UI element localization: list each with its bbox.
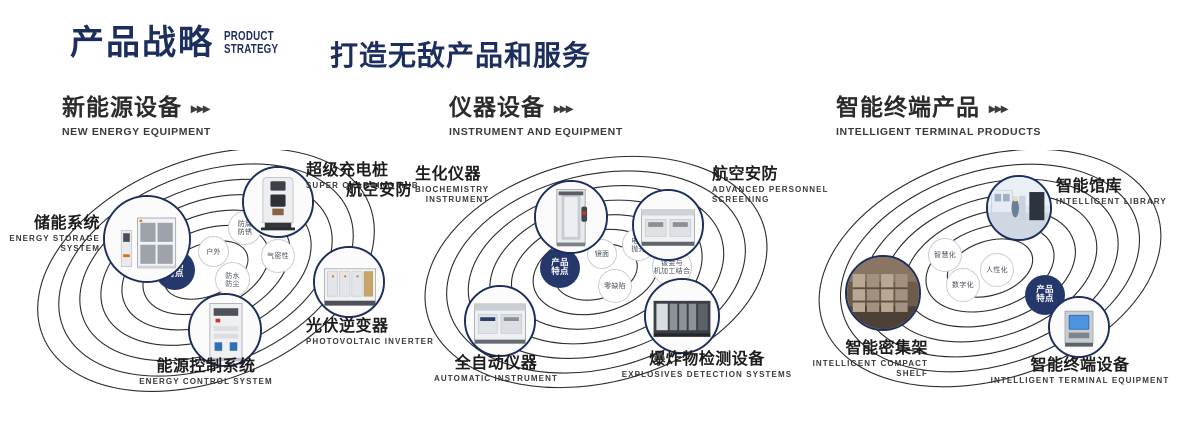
chevron-right-icon: ▸▸▸ xyxy=(989,101,1007,115)
product-label-intelligent-terminal-equipment: 智能终端设备 INTELLIGENT TERMINAL EQUIPMENT xyxy=(960,355,1200,386)
product-label-en: INTELLIGENT COMPACT SHELF xyxy=(748,359,928,379)
product-circle-intelligent-library[interactable] xyxy=(986,175,1052,241)
product-label-en-line1: INTELLIGENT COMPACT xyxy=(813,359,928,368)
product-circle-super-charging-hub[interactable] xyxy=(242,166,314,238)
page-header: 产品战略 PRODUCT STRATEGY xyxy=(70,26,294,60)
product-label-intelligent-library: 智能馆库 INTELLIGENT LIBRARY xyxy=(1056,176,1167,207)
analyzer-machine-icon xyxy=(634,191,702,259)
feature-bubble-humanization: 人性化 xyxy=(980,253,1014,287)
core-bubble-product-features: 产品特点 xyxy=(540,248,580,288)
feature-bubble-label: 零缺陷 xyxy=(604,282,626,290)
product-label-aviation-security-left: 航空安防 xyxy=(312,180,412,199)
product-label-cn: 储能系统 xyxy=(0,213,100,232)
section-title-instrument: 仪器设备 ▸▸▸ INSTRUMENT AND EQUIPMENT xyxy=(449,95,623,138)
product-label-en-line2: SYSTEM xyxy=(61,244,101,253)
product-circle-automatic-instrument[interactable] xyxy=(464,285,536,357)
product-circle-photovoltaic-inverter[interactable] xyxy=(313,246,385,318)
control-cabinet-icon xyxy=(190,295,260,365)
product-label-en: INTELLIGENT TERMINAL EQUIPMENT xyxy=(960,376,1200,386)
feature-bubble-label: 气密性 xyxy=(267,252,289,260)
inverter-cabinet-icon xyxy=(315,248,383,316)
product-label-en-line2: INSTRUMENT xyxy=(426,195,489,204)
panel-instrument-and-equipment: 产品特点 镜面 电解抛光 钣金与机加工结合 零缺陷 xyxy=(400,150,800,415)
poster-root: 产品战略 PRODUCT STRATEGY 打造无敌产品和服务 新能源设备 ▸▸… xyxy=(0,0,1200,422)
product-label-en-line2: SHELF xyxy=(896,369,928,378)
section-title-cn: 仪器设备 ▸▸▸ xyxy=(449,95,623,121)
page-title-en-line1: PRODUCT xyxy=(224,29,274,43)
product-circle-biochemistry-instrument[interactable] xyxy=(534,180,608,254)
product-label-cn: 智能馆库 xyxy=(1056,176,1167,195)
feature-bubble-label: 人性化 xyxy=(986,266,1008,274)
feature-bubble-digitalization: 数字化 xyxy=(946,268,980,302)
feature-bubble-intelligence: 智慧化 xyxy=(928,238,962,272)
charging-pile-icon xyxy=(244,168,312,236)
page-subtitle: 打造无敌产品和服务 xyxy=(330,34,591,74)
chevron-right-icon: ▸▸▸ xyxy=(554,101,572,115)
product-label-en-line1: ENERGY STORAGE xyxy=(9,234,100,243)
core-bubble-label: 产品特点 xyxy=(551,259,569,278)
product-label-en: ENERGY CONTROL SYSTEM xyxy=(86,377,326,387)
product-label-cn: 全自动仪器 xyxy=(390,353,602,372)
feature-bubble-label: 钣金与机加工结合 xyxy=(654,259,691,275)
energy-storage-cabinet-icon xyxy=(105,197,189,281)
section-title-cn: 智能终端产品 ▸▸▸ xyxy=(836,95,1041,121)
product-label-en: INTELLIGENT LIBRARY xyxy=(1056,197,1167,207)
automatic-instrument-icon xyxy=(466,287,534,355)
page-title-en-line2: STRATEGY xyxy=(224,42,278,56)
feature-bubble-outdoor: 户外 xyxy=(198,236,229,267)
section-title-cn-text: 智能终端产品 xyxy=(836,95,980,121)
panel-intelligent-terminal-products: 产品特点 智慧化 人性化 数字化 xyxy=(790,150,1190,415)
section-title-en: INSTRUMENT AND EQUIPMENT xyxy=(449,126,623,138)
section-title-cn: 新能源设备 ▸▸▸ xyxy=(62,95,211,121)
feature-bubble-label: 户外 xyxy=(206,248,221,256)
compact-shelf-photo-icon xyxy=(847,257,919,329)
product-label-en-line2: SCREENING xyxy=(712,195,769,204)
feature-bubble-airtightness: 气密性 xyxy=(261,239,295,273)
terminal-kiosk-icon xyxy=(1050,298,1108,356)
detection-rack-icon xyxy=(646,280,718,352)
product-label-automatic-instrument: 全自动仪器 AUTOMATIC INSTRUMENT xyxy=(390,353,602,384)
product-circle-intelligent-terminal-equipment[interactable] xyxy=(1048,296,1110,358)
product-circle-intelligent-compact-shelf[interactable] xyxy=(845,255,921,331)
section-title-new-energy: 新能源设备 ▸▸▸ NEW ENERGY EQUIPMENT xyxy=(62,95,211,138)
security-scanner-icon xyxy=(536,182,606,252)
feature-bubble-label: 防水防尘 xyxy=(225,272,240,288)
section-title-cn-text: 新能源设备 xyxy=(62,95,182,121)
section-title-en: INTELLIGENT TERMINAL PRODUCTS xyxy=(836,126,1041,138)
feature-bubble-label: 智慧化 xyxy=(934,251,956,259)
product-label-cn: 智能密集架 xyxy=(748,338,928,357)
feature-bubble-waterproof: 防水防尘 xyxy=(215,262,250,297)
product-label-intelligent-compact-shelf: 智能密集架 INTELLIGENT COMPACT SHELF xyxy=(748,338,928,379)
product-circle-explosives-detection-systems[interactable] xyxy=(644,278,720,354)
product-label-cn: 能源控制系统 xyxy=(86,356,326,375)
section-title-intelligent-terminal: 智能终端产品 ▸▸▸ INTELLIGENT TERMINAL PRODUCTS xyxy=(836,95,1041,138)
product-label-en: AUTOMATIC INSTRUMENT xyxy=(390,374,602,384)
product-circle-advanced-personnel-screening[interactable] xyxy=(632,189,704,261)
section-title-en: NEW ENERGY EQUIPMENT xyxy=(62,126,211,138)
product-label-cn: 生化仪器 xyxy=(415,164,489,183)
product-label-en-line1: BIOCHEMISTRY xyxy=(415,185,489,194)
chevron-right-icon: ▸▸▸ xyxy=(191,101,209,115)
product-label-energy-control-system: 能源控制系统 ENERGY CONTROL SYSTEM xyxy=(86,356,326,387)
product-label-energy-storage-system: 储能系统 ENERGY STORAGE SYSTEM xyxy=(0,213,100,254)
page-title: 产品战略 xyxy=(70,26,214,60)
product-label-en: ENERGY STORAGE SYSTEM xyxy=(0,234,100,254)
product-label-en: BIOCHEMISTRY INSTRUMENT xyxy=(415,185,489,205)
feature-bubble-label: 数字化 xyxy=(952,281,974,289)
product-circle-energy-storage-system[interactable] xyxy=(103,195,191,283)
product-label-cn: 航空安防 xyxy=(312,180,412,199)
page-title-en: PRODUCT STRATEGY xyxy=(224,30,278,56)
feature-bubble-zero-defect: 零缺陷 xyxy=(598,269,632,303)
library-room-photo-icon xyxy=(988,177,1050,239)
product-label-cn: 智能终端设备 xyxy=(960,355,1200,374)
section-title-cn-text: 仪器设备 xyxy=(449,95,545,121)
product-label-biochemistry-instrument: 生化仪器 BIOCHEMISTRY INSTRUMENT xyxy=(415,164,489,205)
